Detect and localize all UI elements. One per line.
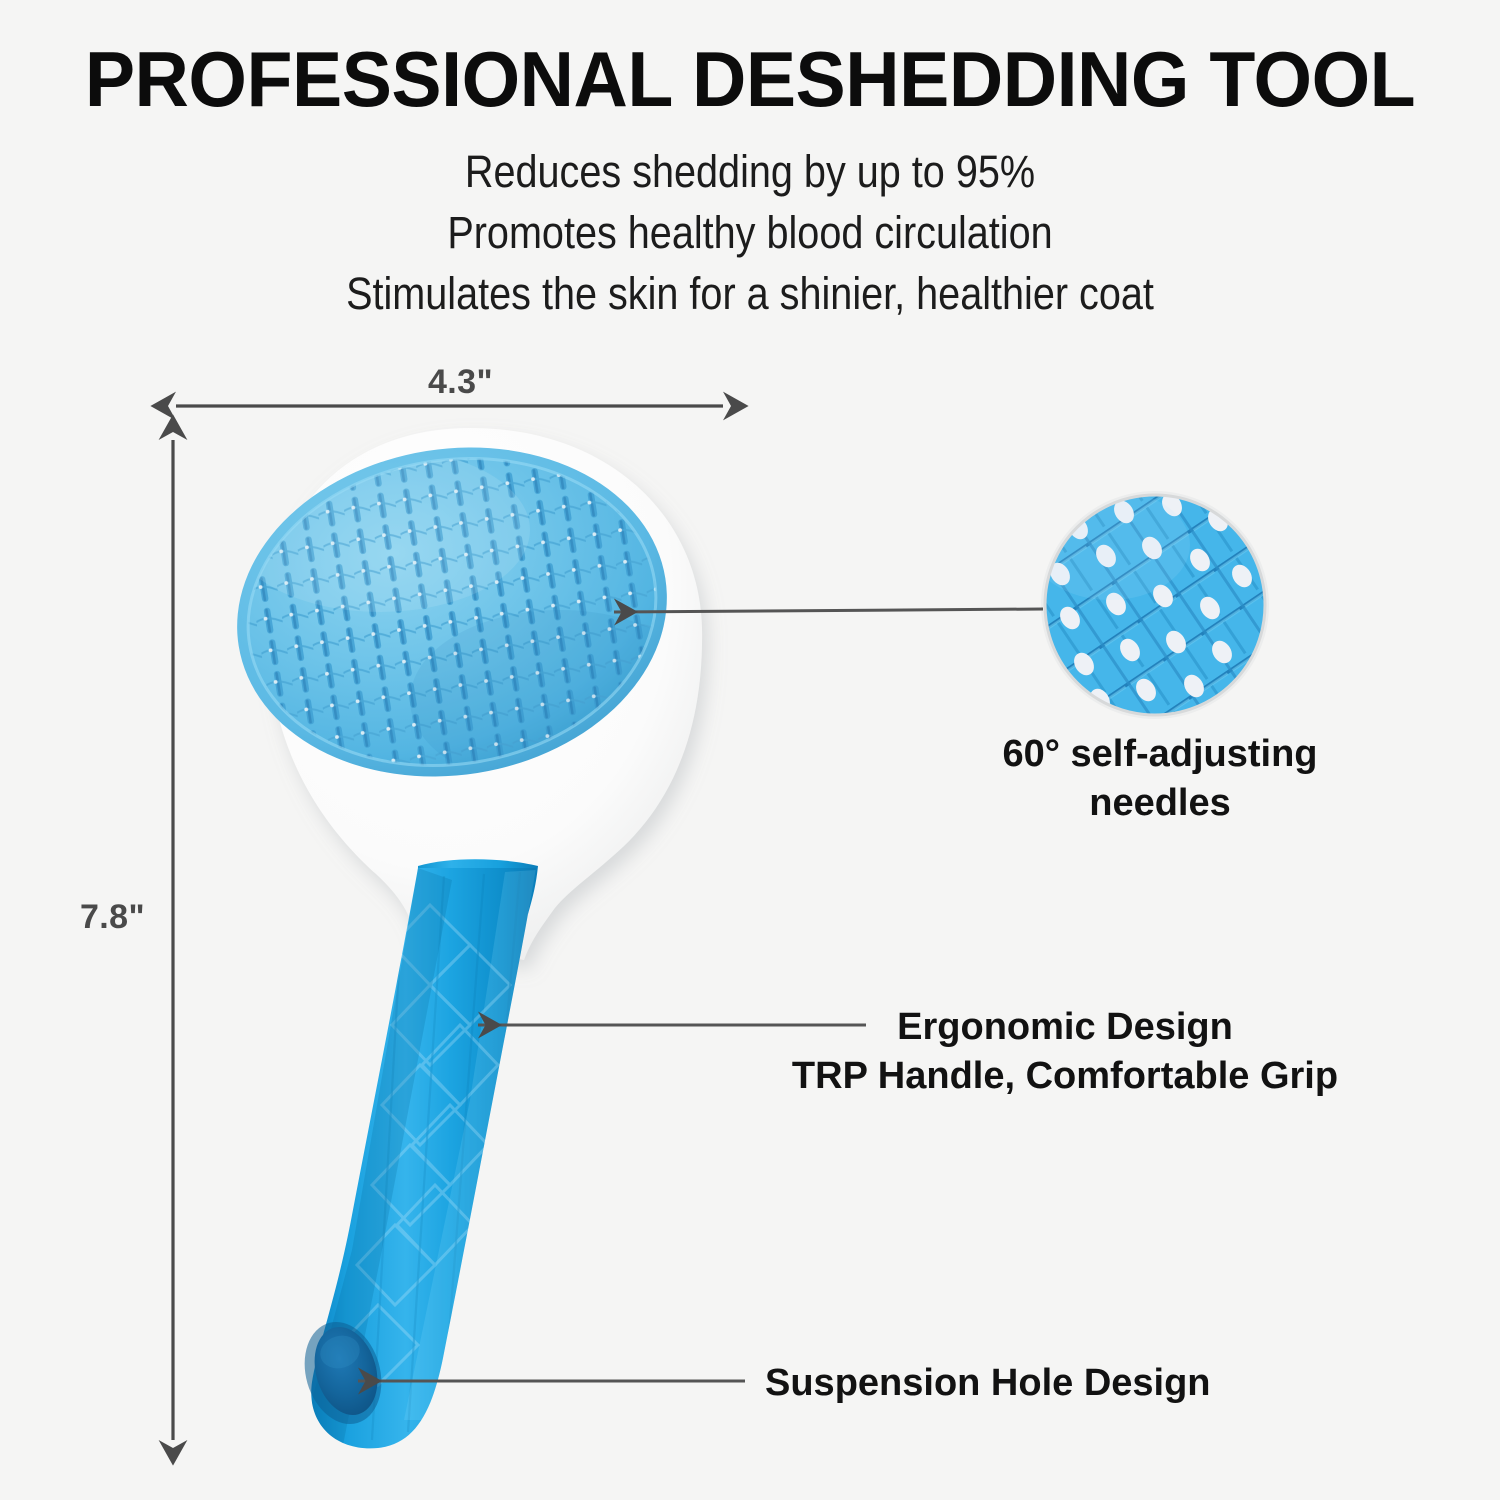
callout-needles-line2: needles bbox=[900, 779, 1420, 828]
subtitle-line-1: Reduces shedding by up to 95% bbox=[90, 147, 1410, 197]
callout-suspension-line1: Suspension Hole Design bbox=[765, 1359, 1430, 1408]
needle-detail-circle bbox=[1030, 490, 1275, 725]
subtitle-line-2: Promotes healthy blood circulation bbox=[90, 208, 1410, 258]
callout-ergonomic-line2: TRP Handle, Comfortable Grip bbox=[700, 1052, 1430, 1101]
height-dimension-label: 7.8" bbox=[80, 898, 145, 937]
subtitle-line-3: Stimulates the skin for a shinier, healt… bbox=[90, 269, 1410, 319]
page-title: PROFESSIONAL DESHEDDING TOOL bbox=[26, 36, 1474, 122]
callout-ergonomic-line1: Ergonomic Design bbox=[700, 1003, 1430, 1052]
product-infographic: PROFESSIONAL DESHEDDING TOOL Reduces she… bbox=[0, 0, 1500, 1500]
callout-suspension: Suspension Hole Design bbox=[700, 1359, 1430, 1408]
width-dimension-label: 4.3" bbox=[428, 363, 493, 402]
callout-needles-line1: 60° self-adjusting bbox=[900, 730, 1420, 779]
callout-ergonomic: Ergonomic Design TRP Handle, Comfortable… bbox=[700, 1003, 1430, 1101]
callout-needles: 60° self-adjusting needles bbox=[900, 730, 1420, 828]
